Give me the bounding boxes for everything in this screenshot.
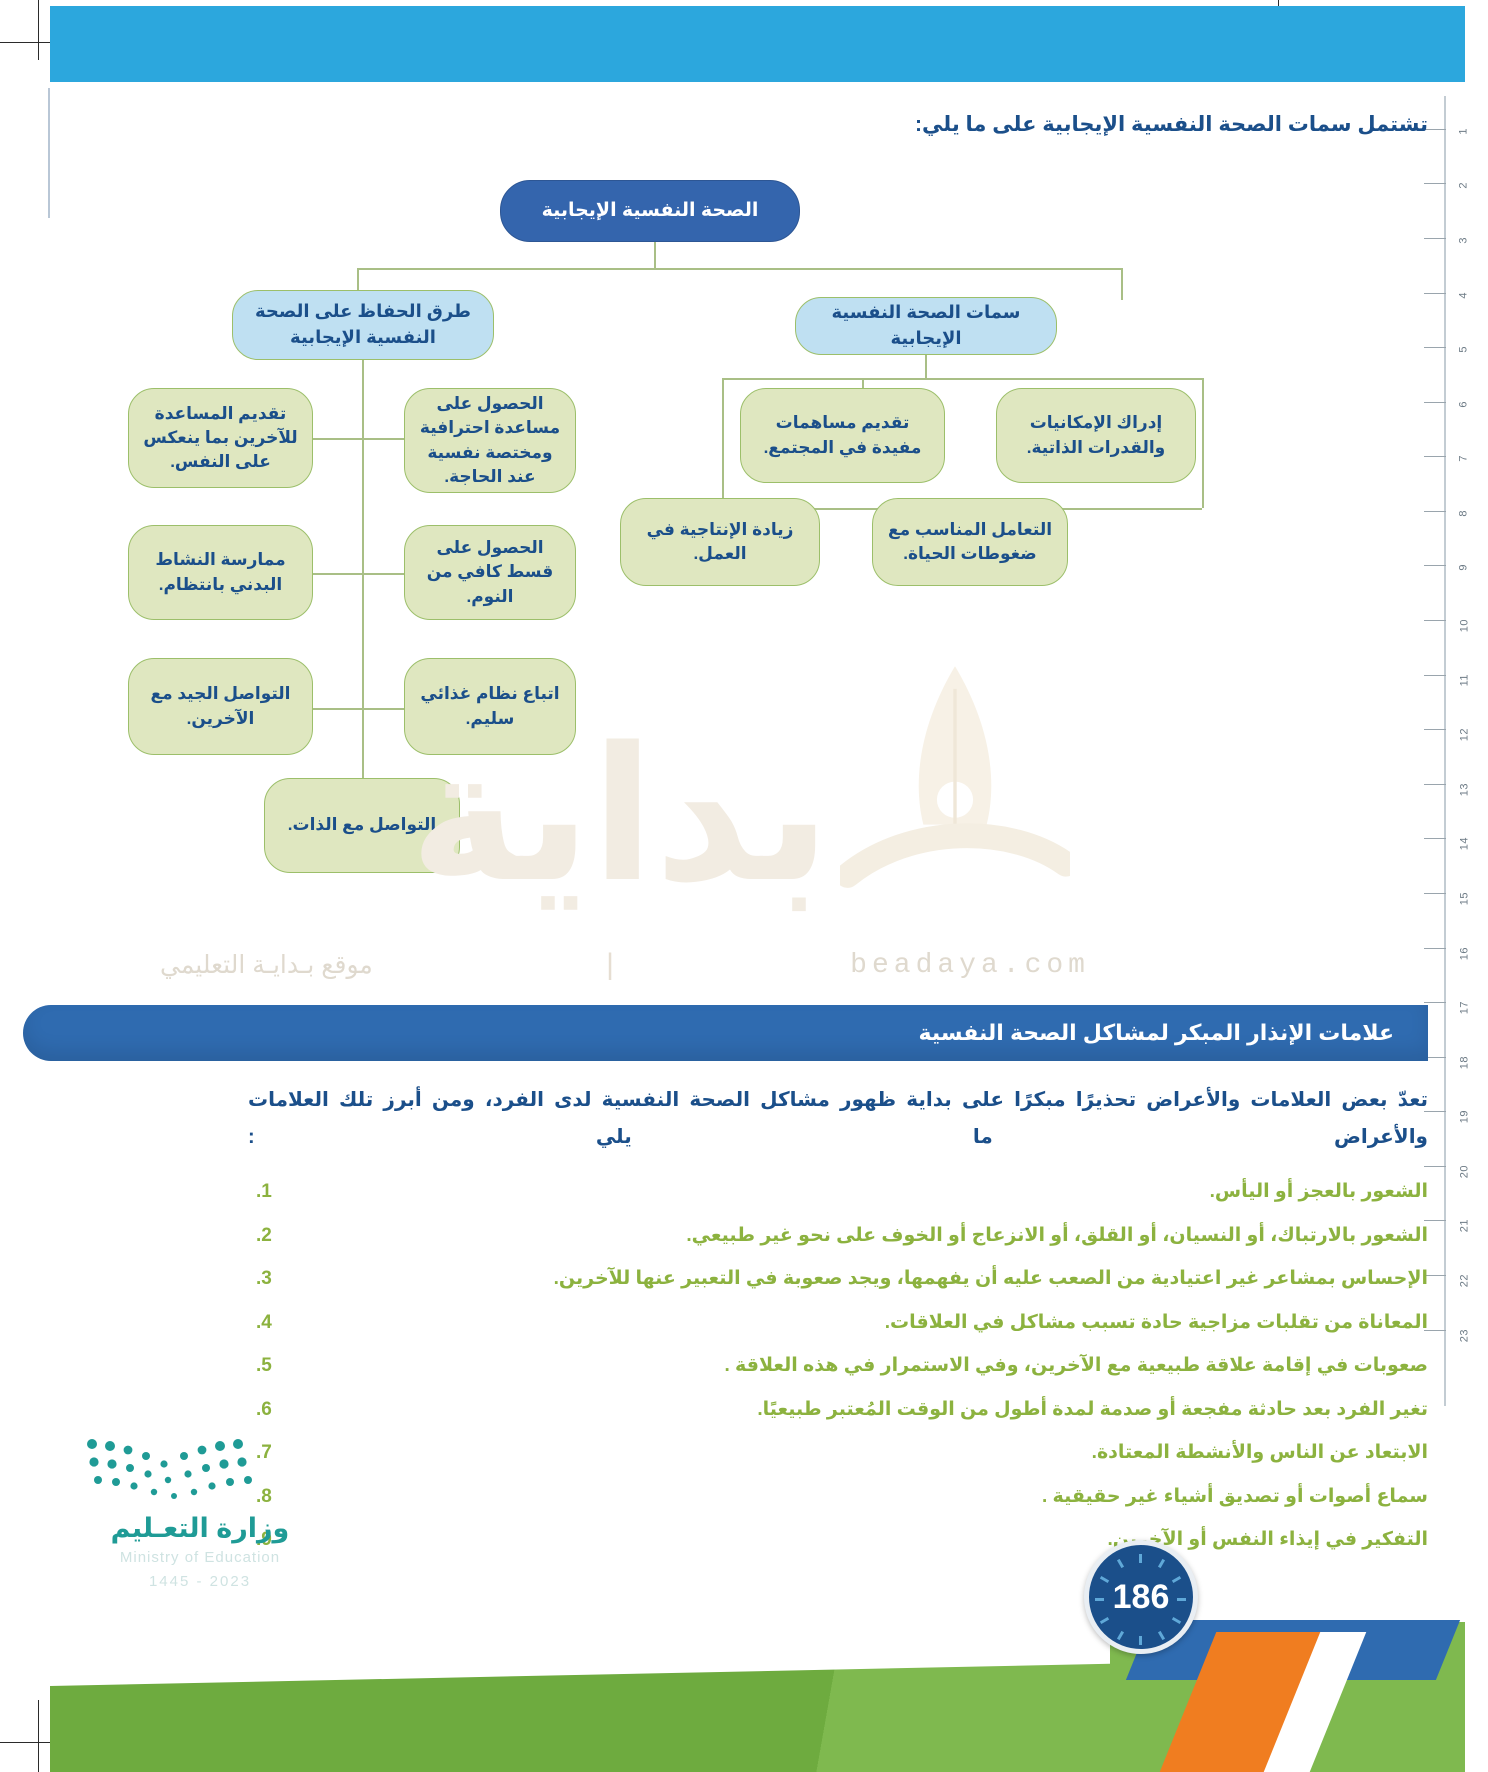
ruler-tick bbox=[1424, 1166, 1446, 1167]
page-badge-tick bbox=[1116, 1630, 1123, 1639]
list-item: 1.الشعور بالعجز أو اليأس. bbox=[248, 1178, 1428, 1207]
leaf-self-communication: التواصل مع الذات. bbox=[264, 778, 460, 873]
ruler-tick bbox=[1424, 347, 1446, 348]
list-item-number: 6. bbox=[248, 1396, 300, 1425]
page-badge-tick bbox=[1095, 1598, 1104, 1601]
ministry-name-english: Ministry of Education bbox=[70, 1549, 330, 1566]
watermark-tagline: موقع بـدايـة التعليمي bbox=[160, 950, 373, 980]
list-item-number: 5. bbox=[248, 1352, 300, 1381]
list-item-number: 1. bbox=[248, 1178, 300, 1207]
ruler-tick-label: 17 bbox=[1458, 1001, 1470, 1014]
crop-mark-bottom-left bbox=[38, 1700, 39, 1772]
leaf-provide-help: تقديم المساعدة للآخرين بما ينعكس على الن… bbox=[128, 388, 313, 488]
warning-signs-list: 1.الشعور بالعجز أو اليأس.2.الشعور بالارت… bbox=[248, 1178, 1428, 1570]
list-item-text: تغير الفرد بعد حادثة مفجعة أو صدمة لمدة … bbox=[300, 1396, 1428, 1425]
connector-to-right-branch bbox=[1121, 268, 1123, 300]
list-item-text: الإحساس بمشاعر غير اعتيادية من الصعب علي… bbox=[300, 1265, 1428, 1294]
ministry-logo-icon bbox=[84, 1434, 264, 1504]
textbook-page: 1234567891011121314151617181920212223 تش… bbox=[0, 0, 1488, 1772]
connector-left-row3 bbox=[312, 708, 412, 710]
ruler-tick-label: 8 bbox=[1458, 510, 1470, 517]
leaf-work-productivity: زيادة الإنتاجية في العمل. bbox=[620, 498, 820, 586]
section-paragraph: تعدّ بعض العلامات والأعراض تحذيرًا مبكرً… bbox=[248, 1082, 1428, 1156]
list-item: 7.الابتعاد عن الناس والأنشطة المعتادة. bbox=[248, 1439, 1428, 1468]
watermark-site: beadaya.com bbox=[850, 950, 1090, 981]
list-item-number: 4. bbox=[248, 1309, 300, 1338]
leaf-professional-help: الحصول على مساعدة احترافية ومختصة نفسية … bbox=[404, 388, 576, 493]
ministry-name-arabic: وزارة التعـليم bbox=[70, 1513, 330, 1544]
page-badge-tick bbox=[1116, 1559, 1123, 1568]
list-item-text: صعوبات في إقامة علاقة طبيعية مع الآخرين،… bbox=[300, 1352, 1428, 1381]
ruler-tick bbox=[1424, 238, 1446, 239]
ruler-tick-label: 15 bbox=[1458, 892, 1470, 905]
list-item-text: الشعور بالعجز أو اليأس. bbox=[300, 1178, 1428, 1207]
ruler-tick-label: 13 bbox=[1458, 783, 1470, 796]
ruler-tick bbox=[1424, 1002, 1446, 1003]
leaf-handle-life-stress: التعامل المناسب مع ضغوطات الحياة. bbox=[872, 498, 1068, 586]
list-item-text: المعاناة من تقلبات مزاجية حادة تسبب مشاك… bbox=[300, 1309, 1428, 1338]
diagram-root-node: الصحة النفسية الإيجابية bbox=[500, 180, 800, 242]
page-badge-tick bbox=[1177, 1598, 1186, 1601]
connector-left-spine bbox=[362, 360, 364, 820]
connector-left-row1 bbox=[312, 438, 412, 440]
list-item-text: الابتعاد عن الناس والأنشطة المعتادة. bbox=[300, 1439, 1428, 1468]
ruler-tick-label: 9 bbox=[1458, 564, 1470, 571]
connector-right-bus bbox=[722, 378, 1202, 380]
ruler-tick-label: 1 bbox=[1458, 128, 1470, 135]
crop-mark-left bbox=[38, 0, 39, 60]
connector-root-bus bbox=[357, 268, 1122, 270]
ruler-tick-label: 16 bbox=[1458, 947, 1470, 960]
ruler-tick bbox=[1424, 729, 1446, 730]
list-item: 3.الإحساس بمشاعر غير اعتيادية من الصعب ع… bbox=[248, 1265, 1428, 1294]
page-badge-tick bbox=[1100, 1616, 1109, 1623]
connector-right-spine bbox=[925, 355, 927, 380]
ruler-tick-label: 3 bbox=[1458, 237, 1470, 244]
ministry-year: 2023 - 1445 bbox=[70, 1573, 330, 1590]
ruler-tick-label: 23 bbox=[1458, 1329, 1470, 1342]
ruler-tick bbox=[1424, 893, 1446, 894]
list-item: 9.التفكير في إيذاء النفس أو الآخرين. bbox=[248, 1526, 1428, 1555]
page-number-badge: 186 bbox=[1084, 1540, 1198, 1654]
ruler-tick bbox=[1424, 511, 1446, 512]
list-item: 8.سماع أصوات أو تصديق أشياء غير حقيقية . bbox=[248, 1483, 1428, 1512]
connector-right-right-drop bbox=[1202, 378, 1204, 508]
watermark-caption: beadaya.com | موقع بـدايـة التعليمي bbox=[160, 945, 1090, 985]
list-item-number: 3. bbox=[248, 1265, 300, 1294]
page-badge-tick bbox=[1139, 1554, 1142, 1563]
intro-sentence: تشتمل سمات الصحة النفسية الإيجابية على م… bbox=[248, 112, 1428, 137]
ruler-tick-label: 6 bbox=[1458, 401, 1470, 408]
ruler-tick-label: 22 bbox=[1458, 1274, 1470, 1287]
page-badge-tick bbox=[1157, 1559, 1164, 1568]
page-badge-tick bbox=[1157, 1630, 1164, 1639]
connector-root-stem bbox=[654, 242, 656, 270]
ruler-tick-label: 18 bbox=[1458, 1056, 1470, 1069]
branch-right-title: سمات الصحة النفسية الإيجابية bbox=[795, 297, 1057, 355]
page-badge-tick bbox=[1100, 1575, 1109, 1582]
watermark-divider: | bbox=[606, 948, 617, 982]
ruler-tick bbox=[1424, 183, 1446, 184]
ruler-tick bbox=[1424, 402, 1446, 403]
leaf-good-communication: التواصل الجيد مع الآخرين. bbox=[128, 658, 313, 755]
ruler-tick bbox=[1424, 784, 1446, 785]
ruler-tick-label: 19 bbox=[1458, 1110, 1470, 1123]
list-item: 5.صعوبات في إقامة علاقة طبيعية مع الآخري… bbox=[248, 1352, 1428, 1381]
list-item: 4.المعاناة من تقلبات مزاجية حادة تسبب مش… bbox=[248, 1309, 1428, 1338]
list-item-number: 2. bbox=[248, 1222, 300, 1251]
ruler-tick bbox=[1424, 293, 1446, 294]
section-ribbon: علامات الإنذار المبكر لمشاكل الصحة النفس… bbox=[23, 1005, 1428, 1061]
page-badge-tick bbox=[1139, 1636, 1142, 1645]
list-item-text: الشعور بالارتباك، أو النسيان، أو القلق، … bbox=[300, 1222, 1428, 1251]
list-item: 2.الشعور بالارتباك، أو النسيان، أو القلق… bbox=[248, 1222, 1428, 1251]
list-item-text: سماع أصوات أو تصديق أشياء غير حقيقية . bbox=[300, 1483, 1428, 1512]
ruler-tick-label: 4 bbox=[1458, 292, 1470, 299]
list-item-text: التفكير في إيذاء النفس أو الآخرين. bbox=[300, 1526, 1428, 1555]
ruler-tick bbox=[1424, 948, 1446, 949]
connector-right-left-drop bbox=[722, 378, 724, 508]
ruler-tick-label: 10 bbox=[1458, 619, 1470, 632]
branch-left-title: طرق الحفاظ على الصحة النفسية الإيجابية bbox=[232, 290, 494, 360]
ruler-tick bbox=[1424, 620, 1446, 621]
ruler-tick-label: 20 bbox=[1458, 1165, 1470, 1178]
ruler-tick bbox=[1424, 838, 1446, 839]
list-item: 6.تغير الفرد بعد حادثة مفجعة أو صدمة لمد… bbox=[248, 1396, 1428, 1425]
ruler-tick bbox=[1424, 456, 1446, 457]
leaf-healthy-diet: اتباع نظام غذائي سليم. bbox=[404, 658, 576, 755]
section-ribbon-title: علامات الإنذار المبكر لمشاكل الصحة النفس… bbox=[919, 1020, 1394, 1046]
page-number: 186 bbox=[1113, 1578, 1170, 1617]
connector-left-row2 bbox=[312, 573, 412, 575]
crop-mark-bottom bbox=[0, 1742, 56, 1743]
top-banner bbox=[50, 6, 1465, 82]
page-badge-tick bbox=[1171, 1575, 1180, 1582]
ruler-tick-label: 5 bbox=[1458, 346, 1470, 353]
ruler-tick-label: 7 bbox=[1458, 455, 1470, 462]
ruler-tick-label: 12 bbox=[1458, 728, 1470, 741]
page-badge-tick bbox=[1171, 1616, 1180, 1623]
ruler-tick bbox=[1424, 565, 1446, 566]
leaf-self-potential: إدراك الإمكانيات والقدرات الذاتية. bbox=[996, 388, 1196, 483]
leaf-physical-activity: ممارسة النشاط البدني بانتظام. bbox=[128, 525, 313, 620]
ruler-tick-label: 21 bbox=[1458, 1219, 1470, 1232]
leaf-enough-sleep: الحصول على قسط كافي من النوم. bbox=[404, 525, 576, 620]
leaf-useful-contributions: تقديم مساهمات مفيدة في المجتمع. bbox=[740, 388, 945, 483]
concept-diagram: الصحة النفسية الإيجابية طرق الحفاظ على ا… bbox=[0, 160, 1260, 900]
ruler-tick bbox=[1424, 675, 1446, 676]
ruler-tick-label: 14 bbox=[1458, 837, 1470, 850]
ruler-tick-label: 11 bbox=[1458, 674, 1470, 686]
ruler-tick-label: 2 bbox=[1458, 182, 1470, 189]
